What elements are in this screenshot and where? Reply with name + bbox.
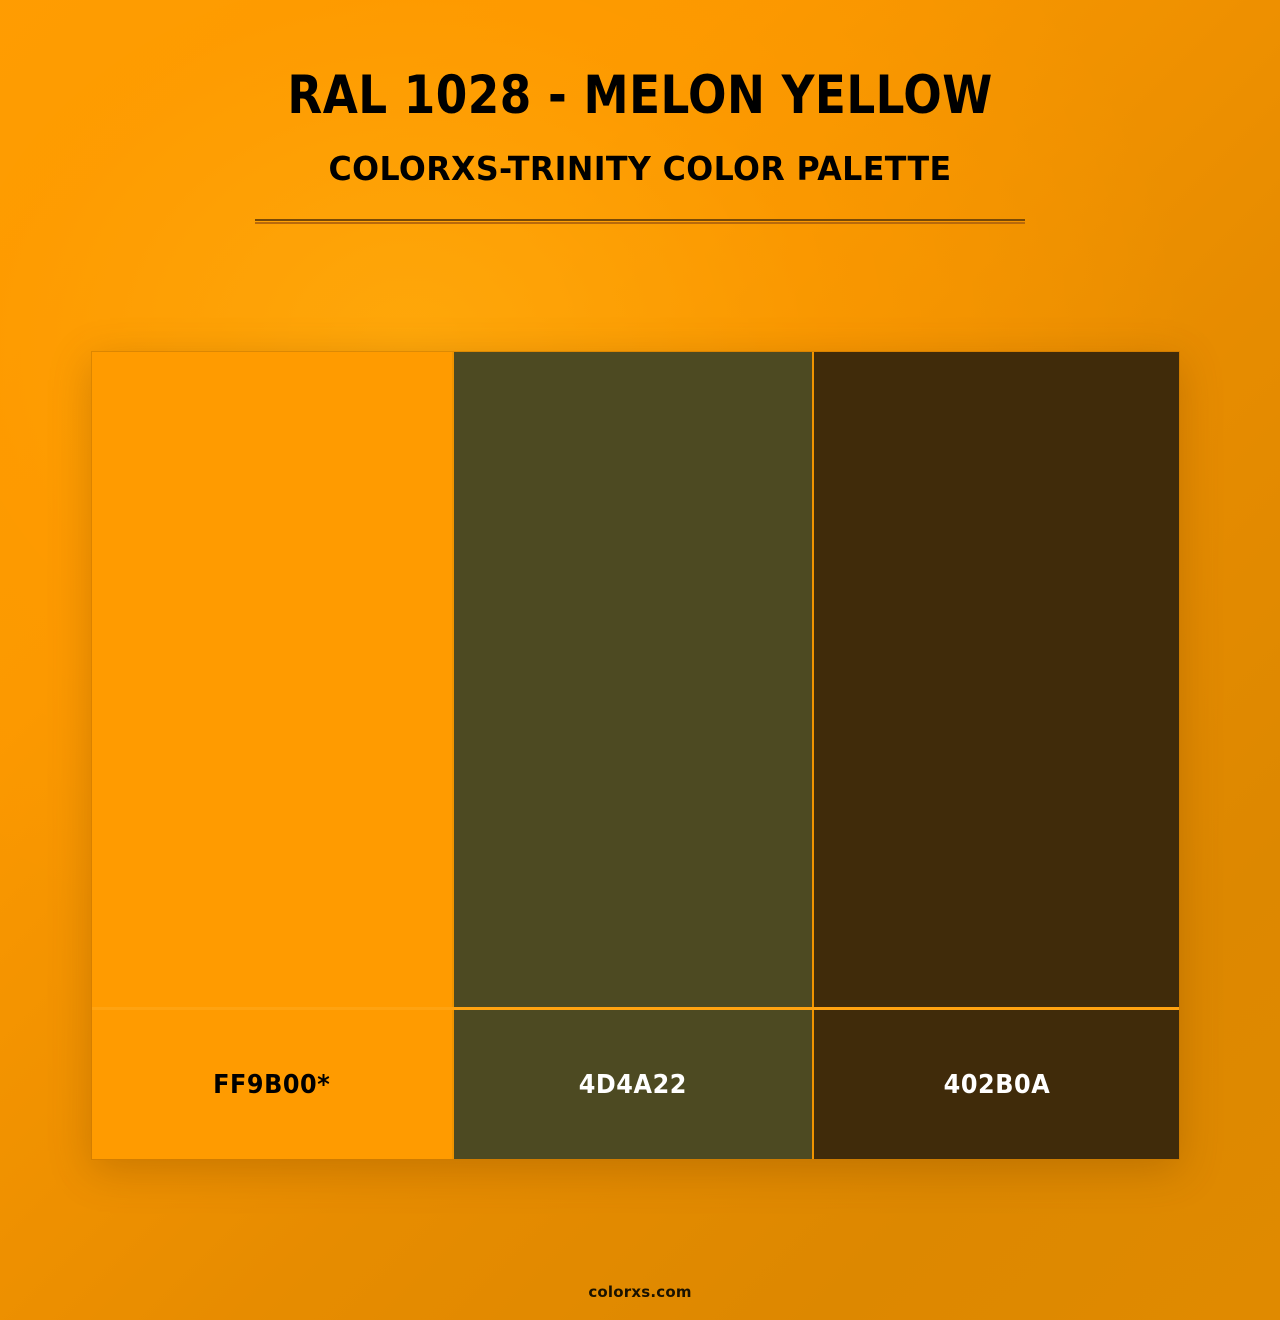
color-label-cell-3[interactable]: 402B0A bbox=[814, 1010, 1179, 1159]
color-swatch-3[interactable] bbox=[814, 352, 1179, 1007]
hex-code-2: 4D4A22 bbox=[579, 1070, 687, 1100]
page-footer: colorxs.com bbox=[0, 1283, 1280, 1302]
hex-code-3: 402B0A bbox=[943, 1070, 1050, 1100]
divider-line-bottom bbox=[255, 222, 1025, 224]
page-header: RAL 1028 - MELON YELLOW COLORXS-TRINITY … bbox=[0, 0, 1280, 224]
site-credit: colorxs.com bbox=[588, 1283, 691, 1301]
palette-card: FF9B00* 4D4A22 402B0A bbox=[91, 351, 1180, 1160]
divider-line-top bbox=[255, 219, 1025, 221]
header-divider bbox=[255, 219, 1025, 224]
swatch-row bbox=[92, 352, 1179, 1007]
color-swatch-2[interactable] bbox=[452, 352, 814, 1007]
swatch-label-row: FF9B00* 4D4A22 402B0A bbox=[92, 1007, 1179, 1159]
color-label-cell-1[interactable]: FF9B00* bbox=[92, 1010, 452, 1159]
page-subtitle: COLORXS-TRINITY COLOR PALETTE bbox=[26, 152, 1255, 187]
color-swatch-1[interactable] bbox=[92, 352, 452, 1007]
color-label-cell-2[interactable]: 4D4A22 bbox=[452, 1010, 814, 1159]
page-title: RAL 1028 - MELON YELLOW bbox=[32, 68, 1248, 124]
hex-code-1: FF9B00* bbox=[213, 1070, 330, 1100]
color-palette-page: RAL 1028 - MELON YELLOW COLORXS-TRINITY … bbox=[0, 0, 1280, 1320]
